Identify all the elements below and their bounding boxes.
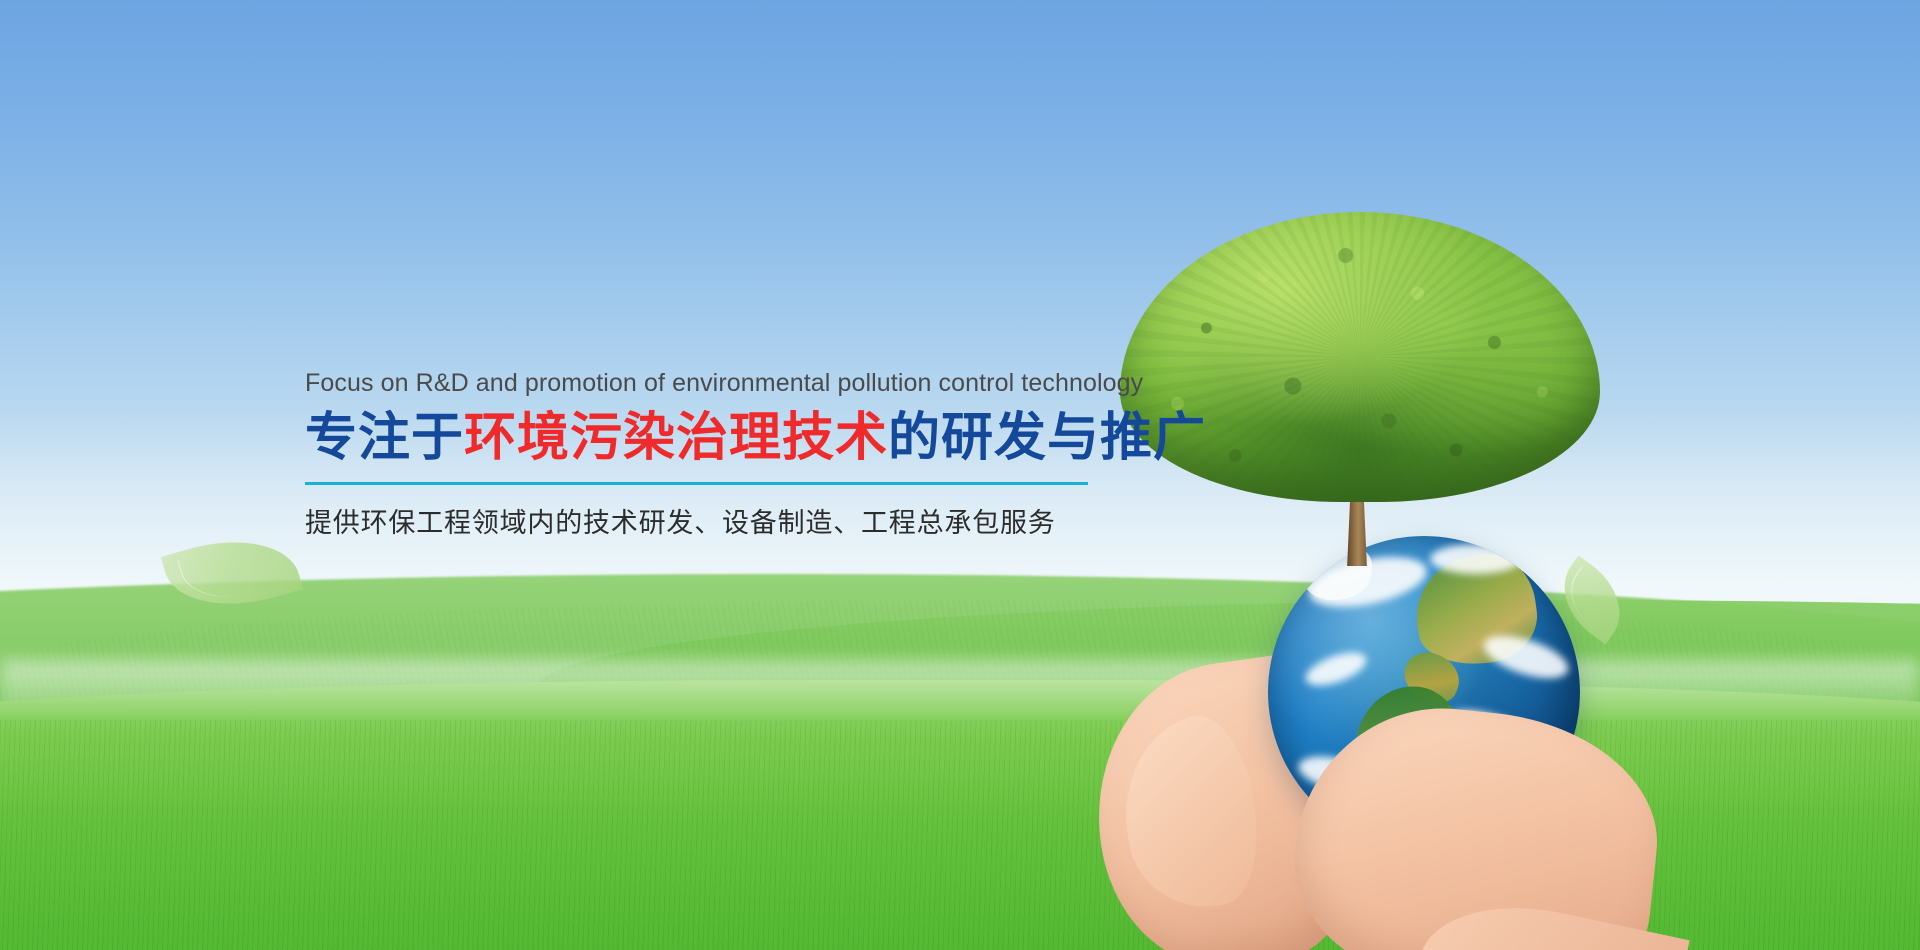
headline-part-2-highlight: 环境污染治理技术 bbox=[464, 408, 888, 468]
cloud bbox=[1430, 544, 1522, 574]
tree-globe-hands-illustration bbox=[1120, 212, 1600, 950]
headline-part-3: 的研发与推广 bbox=[888, 408, 1206, 468]
divider-rule bbox=[305, 482, 1088, 485]
cloud bbox=[1301, 646, 1370, 692]
banner-copy: Focus on R&D and promotion of environmen… bbox=[305, 368, 1105, 541]
english-tagline: Focus on R&D and promotion of environmen… bbox=[305, 368, 1105, 398]
subtitle: 提供环保工程领域内的技术研发、设备制造、工程总承包服务 bbox=[305, 506, 1105, 541]
hero-banner: Focus on R&D and promotion of environmen… bbox=[0, 0, 1920, 950]
headline-part-1: 专注于 bbox=[305, 408, 464, 468]
headline: 专注于环境污染治理技术的研发与推广 bbox=[305, 408, 1105, 468]
